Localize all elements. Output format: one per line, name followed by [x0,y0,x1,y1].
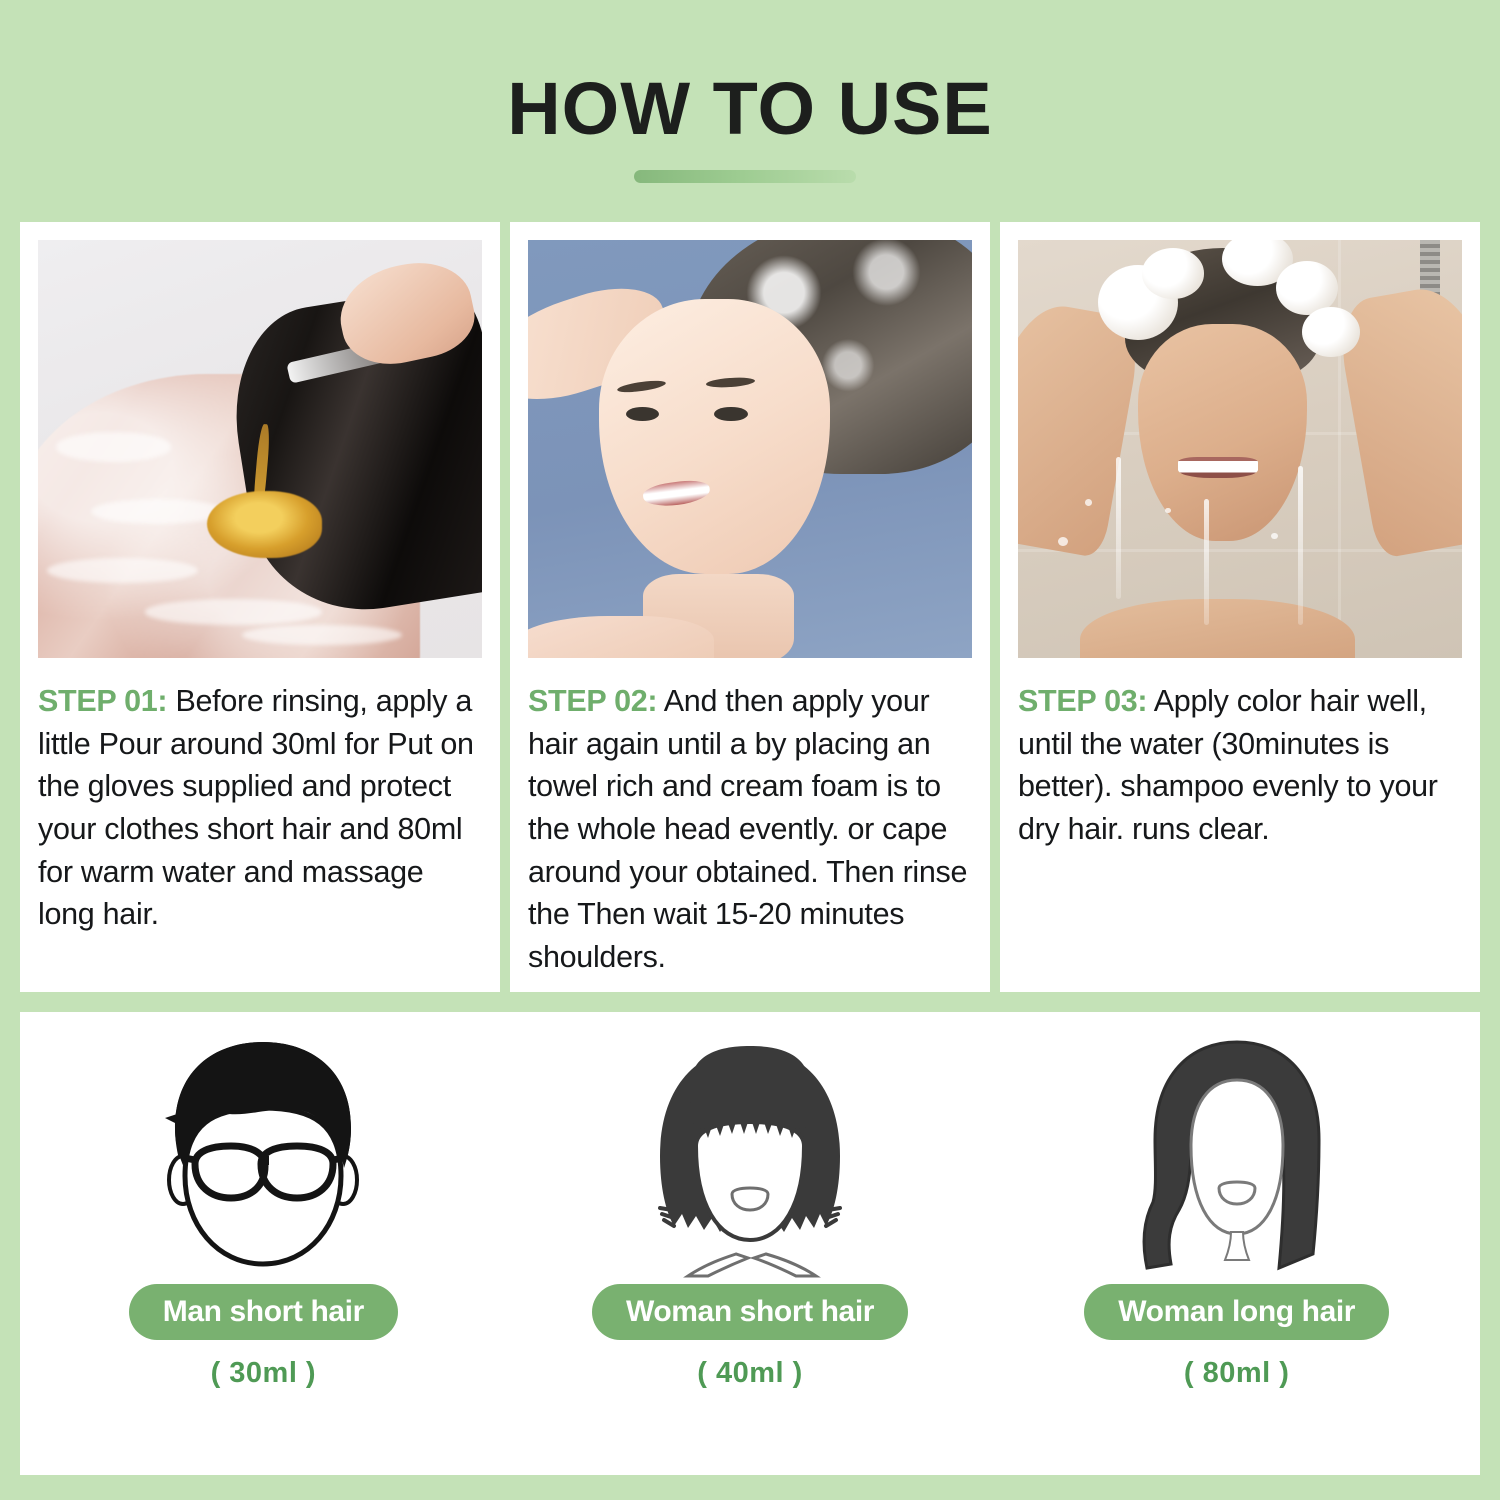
tile-line [1338,240,1341,658]
face-shape [1138,324,1307,541]
water-drop [1085,499,1092,506]
steps-row: STEP 01: Before rinsing, apply a little … [20,222,1480,992]
woman-short-hair-icon [620,1028,880,1278]
water-stream [1204,499,1209,624]
title-underline-bar [634,170,856,183]
infographic-page: HOW TO USE STEP 01: Before rinsing, appl… [0,0,1500,1500]
step-01-body: Before rinsing, apply a little Pour arou… [38,684,474,931]
step-01-text: STEP 01: Before rinsing, apply a little … [38,680,482,936]
hair-type-volume-woman-long: ( 80ml ) [1184,1357,1290,1390]
water-drop [1271,533,1278,539]
smiling-mouth [1178,457,1258,478]
water-drop [1165,508,1171,514]
hair-type-man-short: Man short hair ( 30ml ) [20,1012,507,1475]
step-03-text: STEP 03: Apply color hair well, until th… [1018,680,1462,851]
woman-long-hair-icon [1107,1028,1367,1278]
page-title: HOW TO USE [0,66,1500,151]
step-02-photo [528,240,972,658]
step-card-01: STEP 01: Before rinsing, apply a little … [20,222,500,992]
step-card-03: STEP 03: Apply color hair well, until th… [1000,222,1480,992]
hair-type-label-woman-long: Woman long hair [1084,1284,1389,1340]
step-01-photo [38,240,482,658]
step-03-label: STEP 03: [1018,684,1147,718]
hair-type-volume-man-short: ( 30ml ) [211,1357,317,1390]
hair-type-list: Man short hair ( 30ml ) [20,1012,1480,1475]
face-shape [599,299,830,575]
step-02-label: STEP 02: [528,684,657,718]
shoulder-shape [528,616,714,658]
step-03-photo [1018,240,1462,658]
hair-type-woman-long: Woman long hair ( 80ml ) [993,1012,1480,1475]
foam-blob [1302,307,1360,357]
water-stream [1116,457,1121,599]
hair-type-panel: Man short hair ( 30ml ) [20,1012,1480,1475]
step-01-label: STEP 01: [38,684,167,718]
hair-type-label-man-short: Man short hair [129,1284,398,1340]
water-stream [1298,466,1303,625]
foam-blob [1142,248,1204,298]
glove-fold [145,599,323,624]
glove-fold [56,432,171,461]
hair-type-volume-woman-short: ( 40ml ) [697,1357,803,1390]
man-short-hair-icon [133,1028,393,1278]
header: HOW TO USE [0,0,1500,222]
water-drop [1058,537,1068,546]
step-02-body: And then apply your hair again until a b… [528,684,967,974]
glove-fold [47,558,198,583]
liquid-pool [207,491,322,558]
hair-type-woman-short: Woman short hair ( 40ml ) [507,1012,994,1475]
hair-type-label-woman-short: Woman short hair [592,1284,908,1340]
step-card-02: STEP 02: And then apply your hair again … [510,222,990,992]
torso-shape [1080,599,1355,658]
step-02-text: STEP 02: And then apply your hair again … [528,680,972,979]
